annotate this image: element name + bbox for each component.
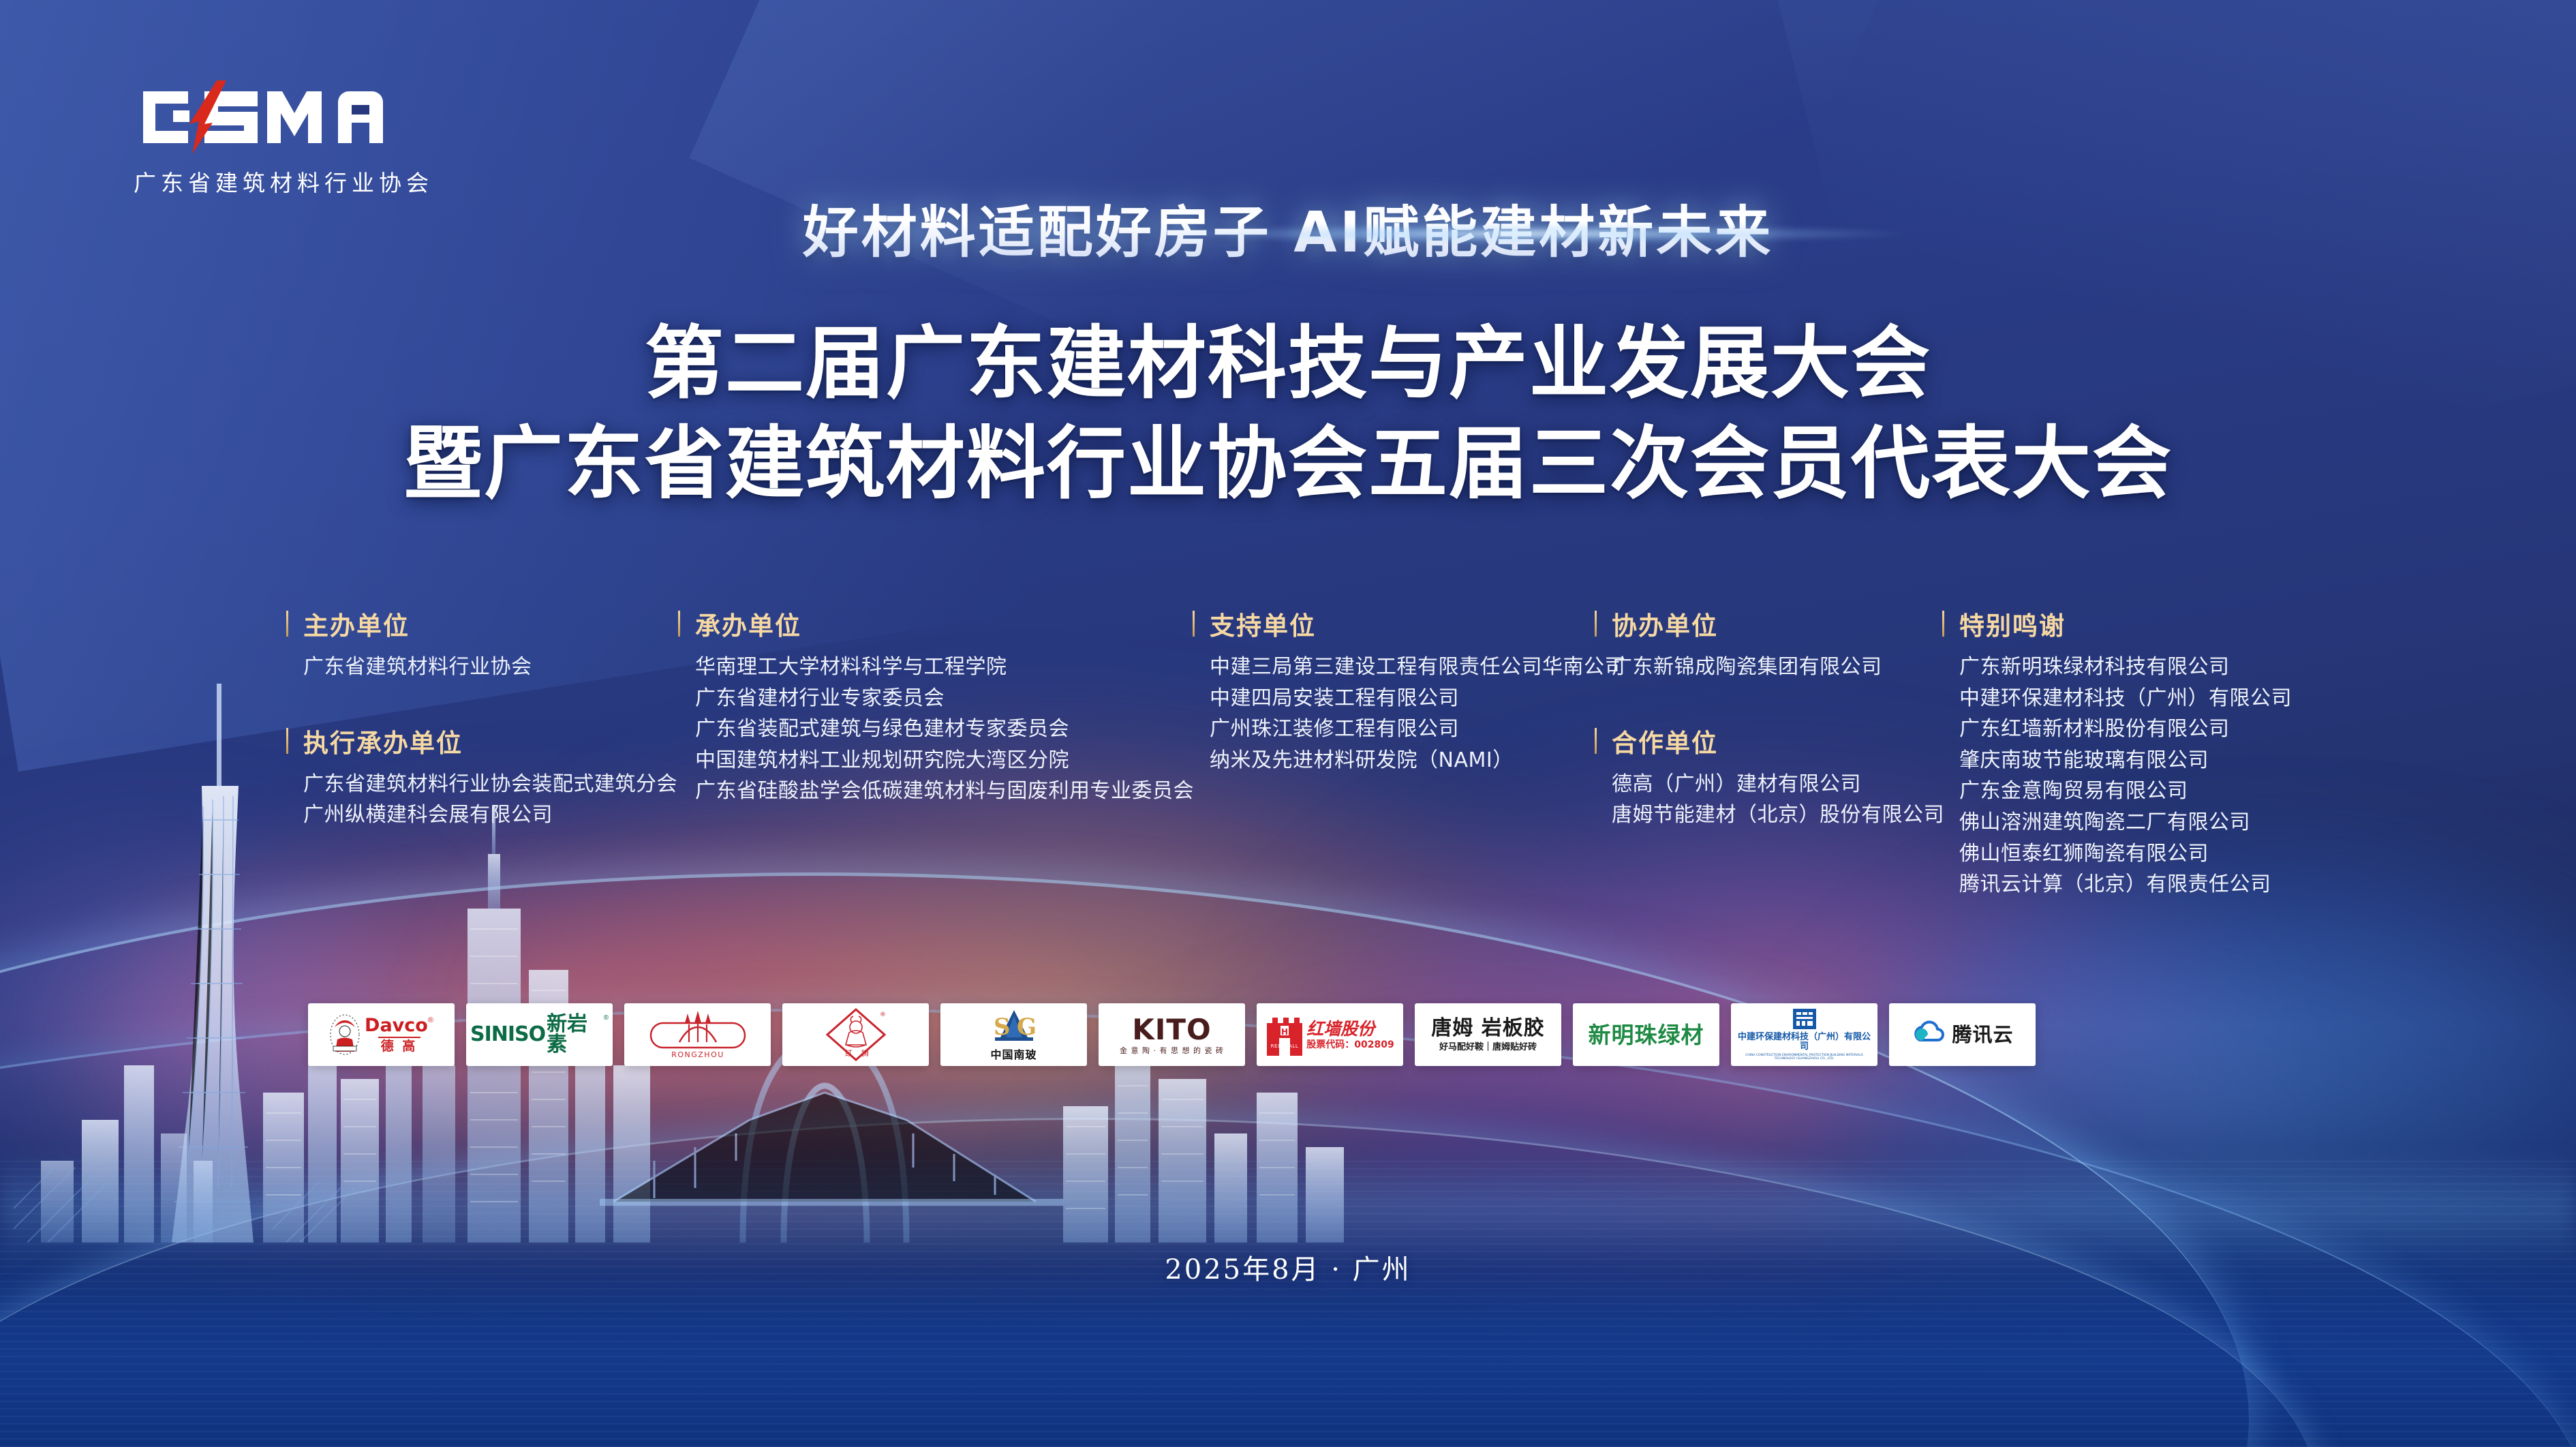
group-heading: 特别鸣谢	[1959, 605, 2066, 642]
sponsor-logo-strip: Davco ® 德 高 SINISO 新岩素 ®	[308, 1003, 2036, 1066]
gbma-logomark	[134, 79, 474, 155]
sponsor-name-sub: 股票代码：002809	[1306, 1040, 1394, 1050]
page-title: 第二届广东建材科技与产业发展大会 暨广东省建筑材料行业协会五届三次会员代表大会	[0, 314, 2576, 515]
organizer-item: 广东新锦成陶瓷集团有限公司	[1612, 652, 1942, 683]
sponsor-name-sub: 新岩素	[547, 1014, 602, 1055]
group-heading: 执行承办单位	[303, 722, 463, 759]
organizer-item: 广州纵横建科会展有限公司	[303, 799, 678, 831]
organizer-item: 广州珠江装修工程有限公司	[1210, 714, 1595, 745]
group-heading: 承办单位	[695, 605, 801, 642]
gold-bar-accent	[1942, 611, 1944, 637]
organizer-item: 佛山恒泰红狮陶瓷有限公司	[1959, 838, 2297, 870]
registered-mark: ®	[604, 1014, 609, 1022]
sponsor-logo-rongzhou: RONGZHOU	[624, 1003, 771, 1066]
organizer-column-2: 承办单位 华南理工大学材料科学与工程学院 广东省建材行业专家委员会 广东省装配式…	[678, 605, 1193, 807]
sponsor-name-sub: 中国南玻	[990, 1050, 1037, 1061]
title-line-1: 第二届广东建材科技与产业发展大会	[0, 314, 2576, 414]
organizer-group: 执行承办单位 广东省建筑材料行业协会装配式建筑分会 广州纵横建科会展有限公司	[286, 722, 678, 831]
gold-bar-accent	[1595, 611, 1597, 637]
organizer-item: 腾讯云计算（北京）有限责任公司	[1959, 869, 2297, 900]
rongzhou-tower-icon: RONGZHOU	[647, 1008, 749, 1061]
davco-mascot-icon	[329, 1014, 361, 1056]
organizer-item: 佛山溶洲建筑陶瓷二厂有限公司	[1959, 807, 2297, 838]
sponsor-name-sub: CHINA CONSTRUCTION ENVIRONMENTAL PROTECT…	[1735, 1054, 1873, 1061]
gbma-wordmark-svg	[134, 79, 420, 155]
tencent-cloud-icon	[1911, 1020, 1946, 1049]
organizer-columns: 主办单位 广东省建筑材料行业协会 执行承办单位 广东省建筑材料行业协会装配式建筑…	[286, 605, 2331, 900]
organizer-item: 广东新明珠绿材科技有限公司	[1959, 652, 2297, 683]
hongqiang-castle-icon: H RED WALL	[1266, 1014, 1304, 1056]
sponsor-name-main: 新明珠绿材	[1589, 1024, 1704, 1046]
red-lion-diamond-icon: ® 红 狮	[822, 1007, 890, 1063]
organizer-item: 华南理工大学材料科学与工程学院	[695, 652, 1193, 683]
sponsor-name-main: 中建环保建材科技（广州）有限公司	[1735, 1033, 1873, 1052]
organizer-column-1: 主办单位 广东省建筑材料行业协会 执行承办单位 广东省建筑材料行业协会装配式建筑…	[286, 605, 678, 831]
svg-text:红: 红	[845, 1049, 853, 1058]
gold-bar-accent	[678, 611, 680, 637]
organizer-group: 承办单位 华南理工大学材料科学与工程学院 广东省建材行业专家委员会 广东省装配式…	[678, 605, 1193, 807]
organizer-item: 唐姆节能建材（北京）股份有限公司	[1612, 799, 1942, 831]
group-heading: 协办单位	[1612, 605, 1718, 642]
sponsor-name-main: KITO	[1132, 1016, 1212, 1044]
sponsor-logo-csg-nanbo: S G 中国南玻	[940, 1003, 1087, 1066]
organizer-item: 广东省建筑材料行业协会装配式建筑分会	[303, 769, 678, 800]
conference-backdrop: 广东省建筑材料行业协会 好材料适配好房子 AI赋能建材新未来 第二届广东建材科技…	[0, 0, 2576, 1447]
organizer-item: 中建三局第三建设工程有限责任公司华南公司	[1210, 652, 1595, 683]
sponsor-logo-davco-dega: Davco ® 德 高	[308, 1003, 455, 1066]
sponsor-name-sub: 好马配好鞍｜唐姆贴好砖	[1439, 1043, 1537, 1052]
cscec-logo-icon	[1793, 1009, 1816, 1029]
gold-bar-accent	[1595, 728, 1597, 754]
sponsor-logo-siniso-xinyansu: SINISO 新岩素 ®	[466, 1003, 613, 1066]
organizer-group: 支持单位 中建三局第三建设工程有限责任公司华南公司 中建四局安装工程有限公司 广…	[1193, 605, 1595, 776]
sponsor-name-sub: RONGZHOU	[671, 1050, 724, 1059]
group-heading: 支持单位	[1210, 605, 1316, 642]
organizer-column-5: 特别鸣谢 广东新明珠绿材科技有限公司 中建环保建材科技（广州）有限公司 广东红墙…	[1942, 605, 2297, 900]
event-tagline-text: 好材料适配好房子 AI赋能建材新未来	[803, 187, 1774, 268]
organizer-item: 中建环保建材科技（广州）有限公司	[1959, 683, 2297, 714]
sponsor-logo-hongshi-redlion: ® 红 狮	[782, 1003, 929, 1066]
organizer-item: 中建四局安装工程有限公司	[1210, 683, 1595, 714]
registered-mark: ®	[428, 1016, 433, 1024]
organizer-item: 肇庆南玻节能玻璃有限公司	[1959, 745, 2297, 776]
organizer-item: 广东金意陶贸易有限公司	[1959, 776, 2297, 807]
sponsor-name-main: Davco	[365, 1016, 428, 1035]
event-date-location-text: 2025年8月 · 广州	[1165, 1254, 1411, 1285]
organizer-item: 中国建筑材料工业规划研究院大湾区分院	[695, 745, 1193, 776]
svg-text:RED WALL: RED WALL	[1271, 1044, 1299, 1049]
title-line-2: 暨广东省建筑材料行业协会五届三次会员代表大会	[0, 414, 2576, 514]
organizer-item: 广东省装配式建筑与绿色建材专家委员会	[695, 714, 1193, 745]
organizer-item: 广东红墙新材料股份有限公司	[1959, 714, 2297, 745]
organizer-group: 合作单位 德高（广州）建材有限公司 唐姆节能建材（北京）股份有限公司	[1595, 722, 1942, 831]
organizer-group: 主办单位 广东省建筑材料行业协会	[286, 605, 678, 683]
sponsor-name-sub: 德 高	[381, 1040, 418, 1053]
event-tagline: 好材料适配好房子 AI赋能建材新未来	[0, 187, 2576, 268]
organizer-item: 广东省硅酸盐学会低碳建筑材料与固废利用专业委员会	[695, 776, 1193, 807]
svg-text:H: H	[1281, 1027, 1288, 1037]
svg-text:S: S	[994, 1014, 1011, 1041]
group-heading: 合作单位	[1612, 722, 1718, 759]
group-heading: 主办单位	[303, 605, 410, 642]
organizer-item: 广东省建筑材料行业协会	[303, 652, 678, 683]
organizer-item: 广东省建材行业专家委员会	[695, 683, 1193, 714]
organizer-group: 特别鸣谢 广东新明珠绿材科技有限公司 中建环保建材科技（广州）有限公司 广东红墙…	[1942, 605, 2297, 900]
sponsor-name-sub: 金 意 陶 · 有 思 想 的 瓷 砖	[1120, 1047, 1224, 1054]
svg-text:狮: 狮	[861, 1049, 869, 1058]
sponsor-logo-kito-jinyitao: KITO 金 意 陶 · 有 思 想 的 瓷 砖	[1099, 1003, 1245, 1066]
sponsor-logo-zhongjian-huanbao: 中建环保建材科技（广州）有限公司 CHINA CONSTRUCTION ENVI…	[1731, 1003, 1877, 1066]
gold-bar-accent	[286, 728, 288, 754]
sponsor-logo-tangmu-yanbanjiao: 唐姆 岩板胶 好马配好鞍｜唐姆贴好砖	[1415, 1003, 1561, 1066]
sponsor-name-main: 腾讯云	[1952, 1025, 2013, 1045]
organizer-column-4: 协办单位 广东新锦成陶瓷集团有限公司 合作单位 德高（广州）建材有限公司 唐姆节…	[1595, 605, 1942, 831]
sponsor-logo-hongqiang-gufen: H RED WALL 红墙股份 股票代码：002809	[1257, 1003, 1403, 1066]
organizer-item: 德高（广州）建材有限公司	[1612, 769, 1942, 800]
association-logo: 广东省建筑材料行业协会	[134, 79, 474, 198]
gold-bar-accent	[1193, 611, 1195, 637]
organizer-item: 纳米及先进材料研发院（NAMI）	[1210, 745, 1595, 776]
sponsor-name-main: 红墙股份	[1306, 1020, 1375, 1037]
svg-text:G: G	[1017, 1014, 1037, 1041]
organizer-column-3: 支持单位 中建三局第三建设工程有限责任公司华南公司 中建四局安装工程有限公司 广…	[1193, 605, 1595, 776]
organizer-group: 协办单位 广东新锦成陶瓷集团有限公司	[1595, 605, 1942, 683]
csg-sg-icon: S G	[983, 1009, 1045, 1048]
sponsor-logo-tencent-cloud: 腾讯云	[1889, 1003, 2036, 1066]
gold-bar-accent	[286, 611, 288, 637]
event-date-location: 2025年8月 · 广州	[0, 1247, 2576, 1287]
sponsor-logo-xinmingzhu-lvcai: 新明珠绿材	[1573, 1003, 1719, 1066]
sponsor-name-main: SINISO	[470, 1024, 545, 1045]
sponsor-name-main: 唐姆 岩板胶	[1431, 1018, 1544, 1039]
svg-text:®: ®	[880, 1011, 886, 1018]
